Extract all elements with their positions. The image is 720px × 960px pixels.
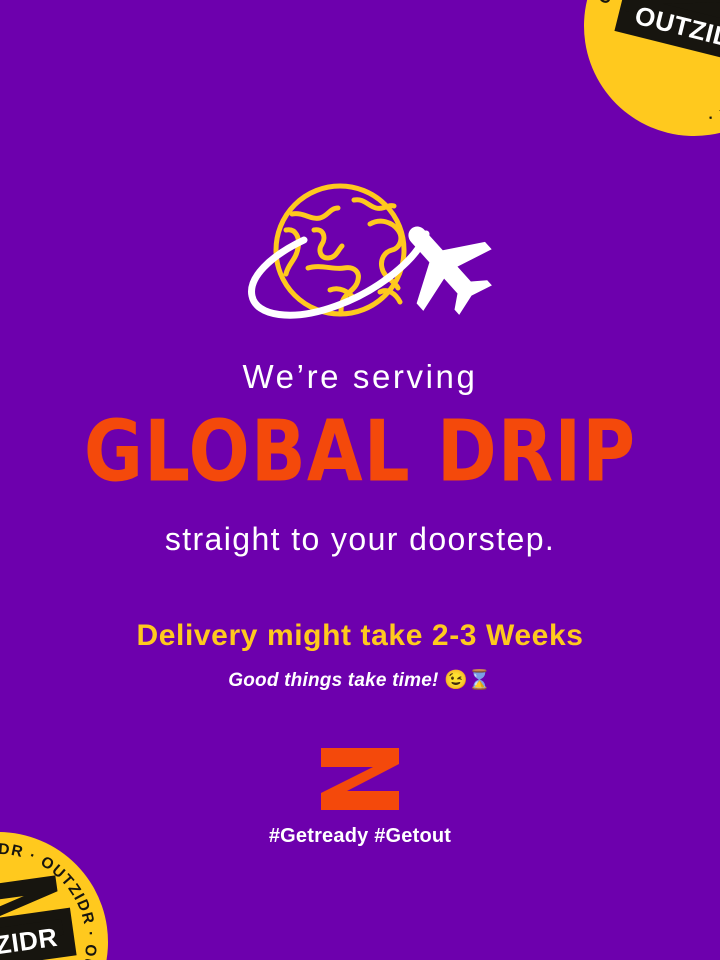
badge-wordmark-block: OUTZIDR — [614, 0, 720, 68]
globe-airplane-emblem — [230, 172, 490, 354]
copy-block: We’re serving GLOBAL DRIP straight to yo… — [0, 360, 720, 690]
badge-top-right: OUTZIDR · OUTZIDR · OUTZIDR · OUTZIDR · … — [561, 0, 720, 159]
wink-hourglass-emoji: 😉⌛ — [444, 670, 492, 691]
delivery-estimate: Delivery might take 2-3 Weeks — [0, 621, 720, 651]
serving-line: We’re serving — [0, 360, 720, 393]
poster-canvas: OUTZIDR · OUTZIDR · OUTZIDR · OUTZIDR · … — [0, 0, 720, 960]
z-logo-icon — [321, 748, 399, 810]
hashtags-line: #Getready #Getout — [0, 826, 720, 846]
doorstep-line: straight to your doorstep. — [0, 523, 720, 555]
good-things-line: Good things take time! 😉⌛ — [0, 671, 720, 690]
page-title: GLOBAL DRIP — [0, 411, 720, 495]
good-things-text: Good things take time! — [228, 670, 438, 691]
footer-block: #Getready #Getout — [0, 748, 720, 846]
